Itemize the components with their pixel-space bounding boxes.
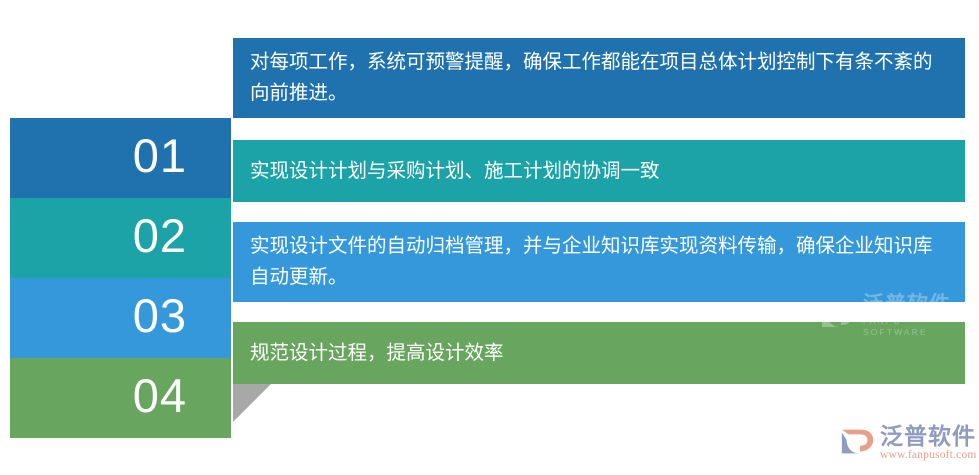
step-text-block-2: 实现设计计划与采购计划、施工计划的协调一致 [233,140,965,202]
brand-logo-text: 泛普软件 www.fanpusoft.com [880,424,977,462]
shadow-triangle [233,384,271,422]
step-number-band-1: 01 [10,118,231,198]
step-text-block-3: 实现设计文件的自动归档管理，并与企业知识库实现资料传输，确保企业知识库自动更新。 [233,222,965,302]
step-number-band-3: 03 [10,278,231,358]
infographic-canvas: 对每项工作，系统可预警提醒，确保工作都能在项目总体计划控制下有条不紊的向前推进。… [0,0,979,475]
step-number-1: 01 [133,118,187,179]
step-text-block-1: 对每项工作，系统可预警提醒，确保工作都能在项目总体计划控制下有条不紊的向前推进。 [233,38,965,118]
step-text-block-4: 规范设计过程，提高设计效率 [233,322,965,384]
step-number-4: 04 [133,358,187,419]
step-text-2: 实现设计计划与采购计划、施工计划的协调一致 [250,156,660,187]
brand-logo: 泛普软件 www.fanpusoft.com [840,418,976,468]
step-text-4: 规范设计过程，提高设计效率 [250,338,504,369]
step-number-band-4: 04 [10,358,231,438]
step-text-1: 对每项工作，系统可预警提醒，确保工作都能在项目总体计划控制下有条不紊的向前推进。 [250,47,945,109]
fanpu-logo-icon [840,424,876,463]
brand-name-cn: 泛普软件 [880,424,977,448]
brand-url: www.fanpusoft.com [880,448,977,462]
step-number-band-2: 02 [10,198,231,278]
step-number-2: 02 [133,198,187,259]
step-number-3: 03 [133,278,187,339]
step-text-3: 实现设计文件的自动归档管理，并与企业知识库实现资料传输，确保企业知识库自动更新。 [250,231,945,293]
